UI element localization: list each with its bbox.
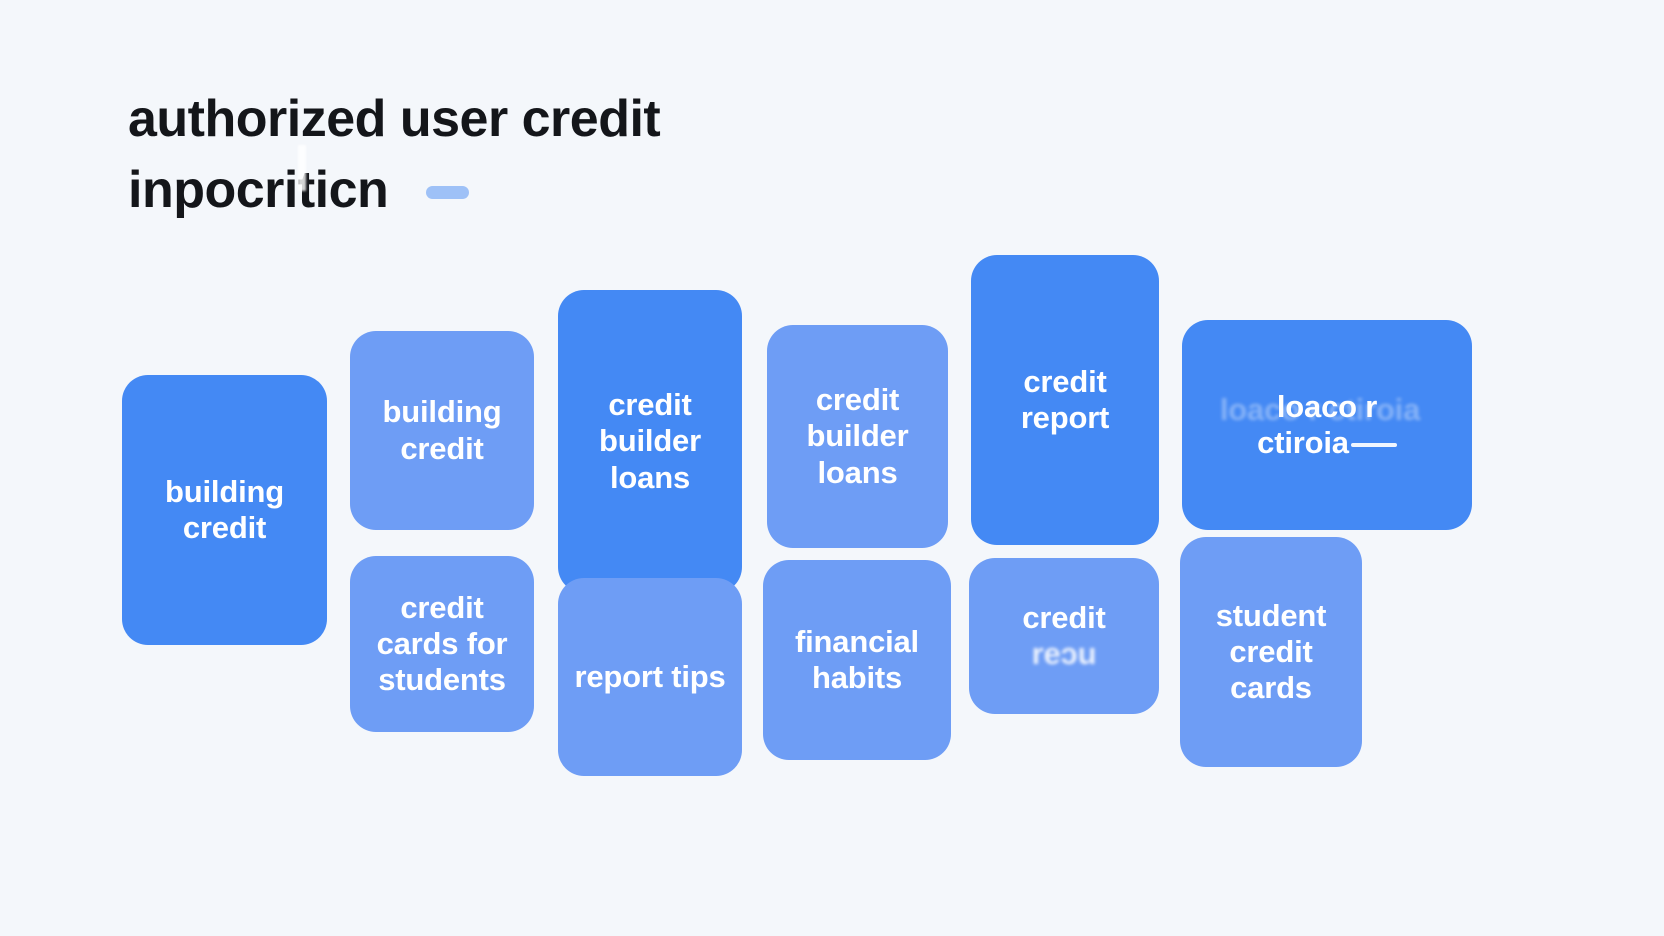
keyword-tile-label: credit cards for students	[364, 590, 520, 699]
keyword-tile-credit-builder-loans-light[interactable]: credit builder loans	[767, 325, 948, 548]
keyword-tile-student-credit-cards[interactable]: student credit cards	[1180, 537, 1362, 767]
keyword-tile-building-credit-small[interactable]: building credit	[350, 331, 534, 530]
keyword-tile-building-credit-large[interactable]: building credit	[122, 375, 327, 645]
garbled-ghost-layer: loaco r ctiroia	[1189, 392, 1451, 428]
keyword-tile-grid: building creditbuilding creditcredit car…	[0, 0, 1664, 936]
keyword-tile-credit-builder-loans-dark[interactable]: credit builder loans	[558, 290, 742, 593]
keyword-tile-credit-cards-for-students[interactable]: credit cards for students	[350, 556, 534, 732]
keyword-tile-garbled-wide[interactable]: loaco r ctiroialoaco rctiroia	[1182, 320, 1472, 530]
keyword-tile-label: building credit	[364, 394, 520, 467]
keyword-tile-report-tips[interactable]: report tips	[558, 578, 742, 776]
keyword-tile-credit-report-smudged[interactable]: creditreɔu	[969, 558, 1159, 714]
keyword-tile-label: credit builder loans	[572, 387, 728, 496]
keyword-tile-label: building credit	[136, 474, 313, 547]
keyword-tile-financial-habits[interactable]: financial habits	[763, 560, 951, 760]
keyword-tile-label: credit builder loans	[781, 382, 934, 491]
screenshot-canvas: authorized user credit inpocriticn build…	[0, 0, 1664, 936]
smudged-line-1: credit	[1022, 600, 1105, 635]
keyword-tile-label: credit report	[985, 364, 1145, 437]
keyword-tile-label: loaco r ctiroialoaco rctiroia	[1196, 389, 1458, 462]
smudged-line-2: reɔu	[983, 636, 1145, 672]
keyword-tile-label: student credit cards	[1194, 598, 1348, 707]
keyword-tile-label: creditreɔu	[983, 600, 1145, 673]
keyword-tile-label: financial habits	[777, 624, 937, 697]
garbled-line-2: ctiroia	[1257, 425, 1349, 460]
garbled-strike-dash-icon	[1351, 443, 1397, 447]
keyword-tile-credit-report-tall[interactable]: credit report	[971, 255, 1159, 545]
keyword-tile-label: report tips	[572, 659, 728, 695]
